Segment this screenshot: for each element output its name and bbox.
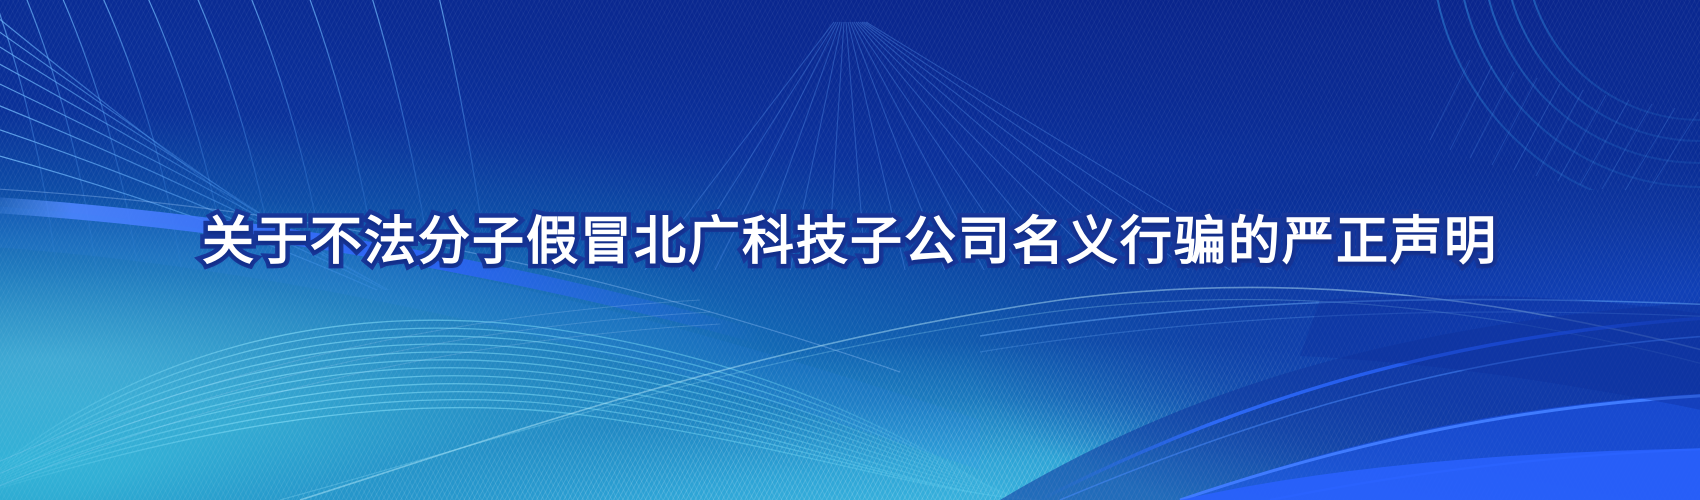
page-title: 关于不法分子假冒北广科技子公司名义行骗的严正声明	[202, 216, 1498, 268]
bottom-right-base-ribbon	[1180, 448, 1700, 500]
wave-echo-center	[0, 300, 720, 494]
announcement-banner: 关于不法分子假冒北广科技子公司名义行骗的严正声明	[0, 0, 1700, 500]
cyan-hill-crest-secondary	[280, 299, 1700, 500]
wave-lines-bottom-left	[0, 320, 1054, 500]
arc-hatch-top-right	[1430, 60, 1698, 195]
concentric-arcs-top-right	[1432, 0, 1700, 213]
ribbon-waves-bottom-right	[980, 299, 1700, 500]
right-lens-shape	[1300, 295, 1700, 418]
banner-title-container: 关于不法分子假冒北广科技子公司名义行骗的严正声明	[0, 216, 1700, 268]
cyan-hill-crest	[300, 287, 1700, 500]
grid-mesh-top-left	[0, 0, 520, 360]
